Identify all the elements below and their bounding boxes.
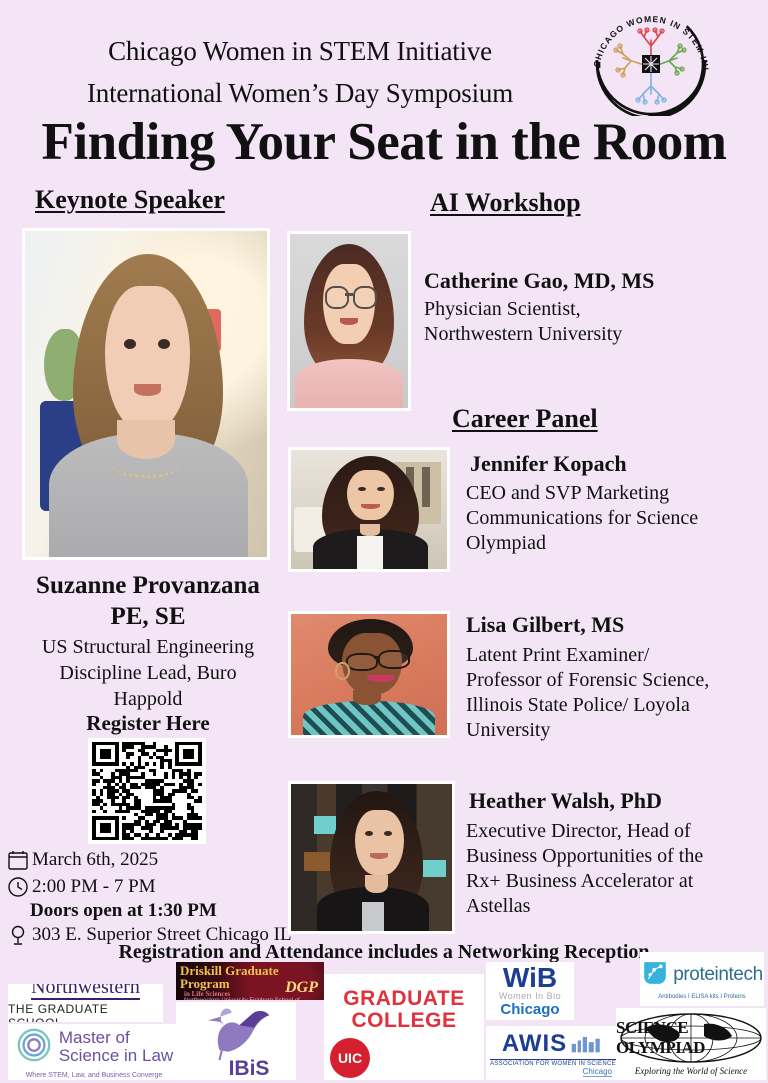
wib-subtitle: Women In Bio <box>499 991 561 1001</box>
speaker-name-lisa-gilbert: Lisa Gilbert, MS <box>466 612 624 638</box>
catherine-gao-photo <box>287 231 411 411</box>
walsh-role-line-2: Business Opportunities of the <box>466 845 703 867</box>
qr-module-grid <box>92 742 202 840</box>
msl-ring-icon <box>15 1026 53 1069</box>
sponsor-logo-uic-graduate-college: GRADUATE COLLEGE UIC <box>324 974 484 1080</box>
ibis-wordmark: IBiS <box>229 1057 270 1081</box>
register-here-qr-code[interactable] <box>88 738 206 844</box>
msl-line-2: Science in Law <box>59 1046 173 1065</box>
sponsor-logo-proteintech: proteintech Antibodies I ELISA kits I Pr… <box>640 952 764 1006</box>
ai-workshop-section-heading: AI Workshop <box>430 188 581 218</box>
calendar-icon <box>6 848 30 872</box>
poster-header: Chicago Women in STEM Initiative Interna… <box>0 0 768 180</box>
speaker-role-heather-walsh: Executive Director, Head of Business Opp… <box>466 819 766 919</box>
clock-icon <box>6 875 30 899</box>
sponsor-logo-wib-chicago: WiB Women In Bio Chicago <box>486 962 574 1020</box>
speaker-role-jennifer-kopach: CEO and SVP Marketing Communications for… <box>466 481 756 556</box>
doors-open-row: Doors open at 1:30 PM <box>30 900 217 922</box>
gc-line-1: GRADUATE <box>343 987 464 1010</box>
event-subtitle: International Women’s Day Symposium <box>0 78 600 109</box>
speaker-role-catherine-gao: Physician Scientist, Northwestern Univer… <box>424 297 724 347</box>
keynote-role-line-2: Discipline Lead, Buro <box>59 662 236 684</box>
keynote-role-line-3: Happold <box>114 688 183 710</box>
speaker-name-catherine-gao: Catherine Gao, MD, MS <box>424 268 654 294</box>
science-olympiad-tagline: Exploring the World of Science <box>635 1066 747 1076</box>
proteintech-wordmark: proteintech <box>673 964 763 986</box>
kopach-role-line-1: CEO and SVP Marketing <box>466 482 669 504</box>
speaker-name-heather-walsh: Heather Walsh, PhD <box>469 788 662 814</box>
career-panel-section-heading: Career Panel <box>452 404 598 434</box>
speaker-name-jennifer-kopach: Jennifer Kopach <box>470 451 627 477</box>
awis-wordmark: AWIS <box>502 1030 567 1058</box>
event-time-row: 2:00 PM - 7 PM <box>6 875 156 899</box>
proteintech-droplet-icon <box>641 959 669 992</box>
keynote-speaker-name: Suzanne Provanzana PE, SE <box>0 570 296 632</box>
northwestern-wordmark: Northwestern <box>31 984 140 1000</box>
gilbert-role-line-4: University <box>466 719 550 741</box>
keynote-section-heading: Keynote Speaker <box>35 185 225 215</box>
awis-city: Chicago <box>583 1067 612 1077</box>
register-here-label: Register Here <box>0 711 296 736</box>
event-date-text: March 6th, 2025 <box>32 849 158 871</box>
keynote-credentials: PE, SE <box>110 603 185 630</box>
dgp-affiliation: Northwestern University Feinberg School … <box>180 998 324 1000</box>
msl-line-1: Master of <box>59 1028 130 1047</box>
keynote-speaker-role: US Structural Engineering Discipline Lea… <box>10 634 286 712</box>
chicago-women-in-stem-initiative-logo: CHICAGO WOMEN IN STEM INITIATIVE <box>585 12 717 116</box>
northwestern-subtitle: THE GRADUATE SCHOOL <box>8 1002 163 1023</box>
event-poster: Chicago Women in STEM Initiative Interna… <box>0 0 768 1083</box>
doors-open-text: Doors open at 1:30 PM <box>30 900 217 922</box>
walsh-role-line-3: Rx+ Business Accelerator at <box>466 870 693 892</box>
organization-name: Chicago Women in STEM Initiative <box>0 36 600 67</box>
graduate-college-wordmark: GRADUATE COLLEGE <box>343 988 464 1032</box>
walsh-role-line-1: Executive Director, Head of <box>466 820 691 842</box>
sponsor-logo-master-of-science-in-law: Master of Science in Law Where STEM, Law… <box>8 1024 180 1080</box>
chicago-skyline-icon <box>570 1033 604 1058</box>
kopach-role-line-2: Communications for Science <box>466 507 698 529</box>
gilbert-role-line-3: Illinois State Police/ Loyola <box>466 694 690 716</box>
ibis-heron-icon <box>188 1002 284 1065</box>
gao-role-line-1: Physician Scientist, <box>424 298 581 320</box>
keynote-speaker-photo <box>22 228 270 560</box>
event-date-row: March 6th, 2025 <box>6 848 158 872</box>
event-time-text: 2:00 PM - 7 PM <box>32 876 156 898</box>
gilbert-role-line-2: Professor of Forensic Science, <box>466 669 709 691</box>
msl-tagline: Where STEM, Law, and Business Converge <box>26 1072 163 1079</box>
proteintech-subtitle: Antibodies I ELISA kits I Proteins <box>658 994 745 1000</box>
lisa-gilbert-photo <box>288 611 450 738</box>
keynote-name-line: Suzanne Provanzana <box>36 572 260 599</box>
sponsor-logo-northwestern-graduate-school: Northwestern THE GRADUATE SCHOOL <box>8 984 163 1022</box>
dgp-mark: DGP <box>285 979 318 997</box>
awis-subtitle: ASSOCIATION FOR WOMEN IN SCIENCE <box>490 1059 616 1067</box>
gc-line-2: COLLEGE <box>351 1009 456 1032</box>
sponsor-logo-awis-chicago: AWIS ASSOCIATION FOR WOMEN IN SCIENCE Ch… <box>486 1026 620 1080</box>
page-title: Finding Your Seat in the Room <box>0 112 768 172</box>
kopach-role-line-3: Olympiad <box>466 532 546 554</box>
sponsor-logo-ibis: IBiS <box>176 1002 296 1080</box>
walsh-role-line-4: Astellas <box>466 895 530 917</box>
uic-badge: UIC <box>330 1038 370 1078</box>
sponsor-logo-science-olympiad: SCIENCE OLYMPIAD Exploring the World of … <box>616 1008 766 1080</box>
speaker-role-lisa-gilbert: Latent Print Examiner/ Professor of Fore… <box>466 643 766 743</box>
keynote-role-line-1: US Structural Engineering <box>42 636 254 658</box>
gilbert-role-line-1: Latent Print Examiner/ <box>466 644 649 666</box>
jennifer-kopach-photo <box>288 447 450 572</box>
gao-role-line-2: Northwestern University <box>424 323 622 345</box>
sponsor-logo-driskill-graduate-program: Driskill Graduate Program in Life Scienc… <box>176 962 324 1000</box>
wib-city: Chicago <box>500 1001 559 1018</box>
science-olympiad-wordmark: SCIENCE OLYMPIAD <box>616 1018 766 1058</box>
msl-wordmark: Master of Science in Law <box>59 1029 173 1065</box>
wib-wordmark: WiB <box>503 965 557 991</box>
heather-walsh-photo <box>288 781 455 934</box>
